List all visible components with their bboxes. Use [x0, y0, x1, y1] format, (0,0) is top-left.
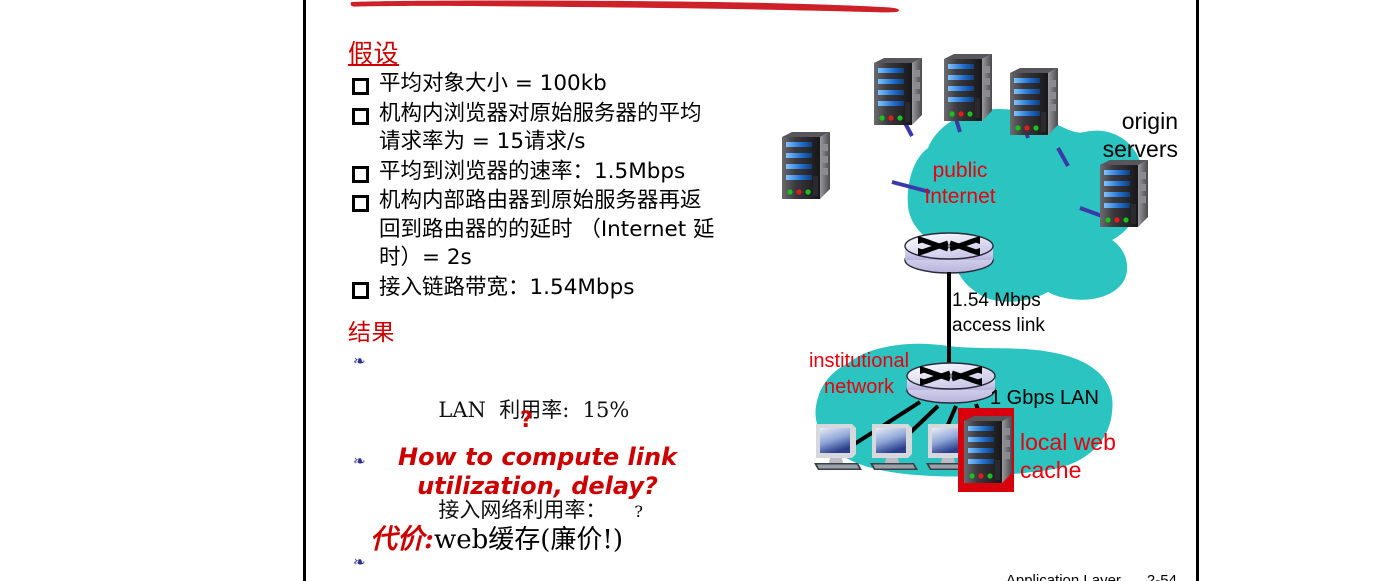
list-item: 平均到浏览器的速率：1.5Mbps [345, 158, 775, 187]
slide-canvas: 假设 平均对象大小 = 100kb 机构内浏览器对原始服务器的平均 请求率为 =… [0, 0, 1398, 581]
list-item: ❧ LAN 利用率: 15% [345, 348, 775, 448]
list-item: 机构内部路由器到原始服务器再返 回到路由器的的延时 （Internet 延 时）… [345, 187, 775, 273]
local-web-cache-server-icon [964, 416, 1012, 483]
institutional-network-label: institutional network [794, 348, 924, 400]
results-heading: 结果 [348, 320, 775, 346]
red-brush-stroke-decoration [350, 0, 902, 14]
square-bullet-icon [352, 195, 369, 212]
list-item: 接入链路带宽：1.54Mbps [345, 274, 775, 303]
cost-line: 代价:web缓存(廉价!) [370, 522, 623, 557]
callout-line-1: How to compute link [345, 443, 730, 472]
result-text: 接入网络利用率： [438, 498, 606, 522]
list-item: 平均对象大小 = 100kb [345, 70, 775, 99]
square-bullet-icon [352, 166, 369, 183]
internet-router-icon [905, 233, 993, 273]
slide-footer: Application Layer2-54 [990, 555, 1177, 581]
assumption-text: 平均对象大小 = 100kb [379, 71, 607, 96]
assumption-text: 接入链路带宽：1.54Mbps [379, 275, 634, 300]
callout-how-to-compute: How to compute link utilization, delay? [345, 443, 730, 501]
public-internet-label: public Internet [900, 158, 1020, 210]
assumptions-list: 平均对象大小 = 100kb 机构内浏览器对原始服务器的平均 请求率为 = 15… [345, 70, 775, 302]
origin-servers-label: origin servers [1078, 107, 1178, 163]
lan-speed-label: 1 Gbps LAN [990, 386, 1099, 410]
result-question-mark: ? [606, 502, 643, 521]
diamond-bullet-icon: ❧ [353, 354, 367, 368]
access-link-label: 1.54 Mbps access link [952, 288, 1045, 338]
desktop-pc-icon [870, 424, 918, 470]
assumption-text: 平均到浏览器的速率：1.5Mbps [379, 159, 685, 184]
footer-page-number: 2-54 [1147, 572, 1177, 581]
assumption-text: 机构内部路由器到原始服务器再返 回到路由器的的延时 （Internet 延 时）… [379, 188, 715, 270]
network-diagram: origin servers public Internet 1.54 Mbps… [780, 40, 1180, 510]
floating-question-mark: ? [520, 408, 533, 433]
local-web-cache-label: local web cache [1020, 428, 1116, 484]
result-text: LAN 利用率: 15% [438, 398, 629, 422]
origin-server-icon [1010, 68, 1058, 135]
callout-line-2: utilization, delay? [345, 472, 730, 501]
square-bullet-icon [352, 78, 369, 95]
slide-border-left [303, 0, 306, 581]
footer-section-label: Application Layer [1006, 572, 1121, 581]
square-bullet-icon [352, 108, 369, 125]
slide-border-right [1196, 0, 1199, 581]
origin-server-icon [782, 132, 830, 199]
origin-server-icon [874, 58, 922, 125]
origin-server-icon [1100, 160, 1148, 227]
cost-body: web缓存(廉价!) [434, 525, 623, 555]
origin-server-icon [944, 54, 992, 121]
desktop-pc-icon [814, 424, 862, 470]
cost-label: 代价: [370, 524, 434, 555]
assumptions-heading: 假设 [348, 40, 775, 68]
assumption-text: 机构内浏览器对原始服务器的平均 请求率为 = 15请求/s [379, 101, 702, 155]
list-item: 机构内浏览器对原始服务器的平均 请求率为 = 15请求/s [345, 100, 775, 157]
square-bullet-icon [352, 282, 369, 299]
diamond-bullet-icon: ❧ [353, 555, 367, 569]
